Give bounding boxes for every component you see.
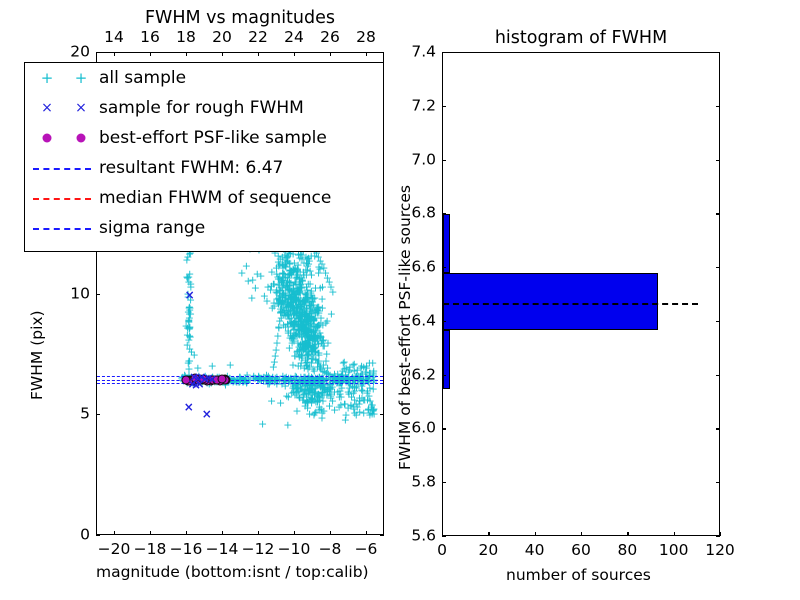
legend-marker-dot bbox=[43, 134, 52, 143]
hist-y-tick-left bbox=[442, 267, 446, 268]
scatter-point-all: + bbox=[314, 357, 323, 368]
top-tick-label: 16 bbox=[140, 30, 160, 46]
hist-y-tick-left bbox=[442, 428, 446, 429]
x-tick-bottom bbox=[258, 531, 259, 535]
legend-item[interactable]: median FHWM of sequence bbox=[25, 183, 383, 213]
scatter-point-rough: × bbox=[184, 401, 194, 413]
scatter-point-all: + bbox=[289, 293, 298, 304]
bottom-tick-label: −14 bbox=[206, 542, 239, 558]
scatter-point-all: + bbox=[247, 293, 256, 304]
y-tick-left bbox=[96, 414, 100, 415]
bottom-tick-label: −16 bbox=[170, 542, 203, 558]
legend-item[interactable]: resultant FWHM: 6.47 bbox=[25, 153, 383, 183]
legend-item[interactable]: ++all sample bbox=[25, 63, 383, 93]
y-tick-right bbox=[380, 414, 384, 415]
scatter-point-all: + bbox=[301, 292, 310, 303]
hist-y-tick-right bbox=[716, 536, 720, 537]
y-tick-right bbox=[380, 535, 384, 536]
x-tick-top bbox=[294, 52, 295, 56]
bottom-tick-label: −20 bbox=[98, 542, 131, 558]
top-tick-label: 14 bbox=[104, 30, 124, 46]
scatter-point-all: + bbox=[358, 368, 367, 379]
legend-marker-x: × bbox=[75, 101, 87, 115]
hist-y-tick-left bbox=[442, 52, 446, 53]
legend-item[interactable]: ××sample for rough FWHM bbox=[25, 93, 383, 123]
hist-y-tick-right bbox=[716, 213, 720, 214]
hist-x-tick-label: 40 bbox=[525, 543, 545, 559]
legend-marker-plus: + bbox=[41, 71, 54, 85]
hist-x-tick bbox=[674, 532, 675, 536]
legend-handle bbox=[25, 213, 99, 243]
hist-y-tick-label: 7.2 bbox=[396, 98, 436, 114]
legend-marker-x: × bbox=[41, 101, 53, 115]
scatter-point-all: + bbox=[283, 419, 292, 430]
hist-y-tick-right bbox=[716, 160, 720, 161]
x-tick-top bbox=[366, 52, 367, 56]
scatter-point-all: + bbox=[185, 303, 194, 314]
histogram-median-line bbox=[443, 303, 698, 305]
scatter-point-all: + bbox=[282, 253, 291, 264]
hist-y-tick-right bbox=[716, 375, 720, 376]
scatter-point-all: + bbox=[304, 252, 313, 263]
hist-x-tick-label: 60 bbox=[571, 543, 591, 559]
histogram-layer bbox=[443, 53, 719, 535]
x-tick-bottom bbox=[222, 531, 223, 535]
bottom-tick-label: −12 bbox=[242, 542, 275, 558]
scatter-point-all: + bbox=[350, 386, 359, 397]
scatter-point-rough: × bbox=[207, 373, 217, 385]
bottom-tick-label: −18 bbox=[134, 542, 167, 558]
hist-y-tick-right bbox=[716, 482, 720, 483]
hist-y-tick-right bbox=[716, 52, 720, 53]
scatter-point-all: + bbox=[301, 401, 310, 412]
legend-label: resultant FWHM: 6.47 bbox=[99, 158, 283, 178]
bottom-tick-label: −10 bbox=[278, 542, 311, 558]
right-panel-title: histogram of FWHM bbox=[495, 28, 667, 48]
scatter-point-all: + bbox=[340, 398, 349, 409]
left-x-axis-label: magnitude (bottom:isnt / top:calib) bbox=[96, 563, 369, 581]
hist-y-tick-label: 7.0 bbox=[396, 152, 436, 168]
left-panel-title: FWHM vs magnitudes bbox=[145, 8, 335, 28]
x-tick-bottom bbox=[114, 531, 115, 535]
y-tick-label: 5 bbox=[58, 407, 90, 423]
scatter-point-all: + bbox=[328, 287, 337, 298]
hist-x-tick bbox=[720, 532, 721, 536]
scatter-point-all: + bbox=[319, 373, 328, 384]
hist-x-tick-label: 80 bbox=[617, 543, 637, 559]
scatter-point-all: + bbox=[226, 359, 235, 370]
legend-label: all sample bbox=[99, 68, 186, 88]
bottom-tick-label: −8 bbox=[319, 542, 342, 558]
scatter-point-all: + bbox=[267, 395, 276, 406]
scatter-point-rough: × bbox=[185, 289, 195, 301]
legend[interactable]: ++all sample××sample for rough FWHMbest-… bbox=[24, 62, 384, 252]
x-tick-top bbox=[258, 52, 259, 56]
scatter-point-all: + bbox=[293, 265, 302, 276]
y-tick-label: 10 bbox=[58, 286, 90, 302]
hist-y-tick-right bbox=[716, 321, 720, 322]
histogram-bar[interactable] bbox=[443, 330, 450, 389]
top-tick-label: 20 bbox=[212, 30, 232, 46]
scatter-point-all: + bbox=[353, 401, 362, 412]
legend-label: median FHWM of sequence bbox=[99, 188, 331, 208]
hist-x-tick bbox=[627, 532, 628, 536]
figure-canvas: FWHM vs magnitudes 1416182022242628 −20−… bbox=[0, 0, 800, 600]
x-tick-top bbox=[222, 52, 223, 56]
legend-handle: ×× bbox=[25, 93, 99, 123]
scatter-point-all: + bbox=[298, 352, 307, 363]
x-tick-bottom bbox=[366, 531, 367, 535]
legend-label: sample for rough FWHM bbox=[99, 98, 304, 118]
scatter-point-all: + bbox=[319, 406, 328, 417]
legend-marker-plus: + bbox=[75, 71, 88, 85]
hist-x-tick bbox=[488, 532, 489, 536]
x-tick-top bbox=[114, 52, 115, 56]
top-tick-label: 22 bbox=[248, 30, 268, 46]
x-tick-top bbox=[186, 52, 187, 56]
resultant-fwhm-line bbox=[97, 380, 383, 381]
hist-x-tick bbox=[581, 532, 582, 536]
scatter-point-all: + bbox=[185, 355, 194, 366]
x-tick-top bbox=[330, 52, 331, 56]
legend-label: sigma range bbox=[99, 218, 205, 238]
y-tick-left bbox=[96, 294, 100, 295]
top-tick-label: 24 bbox=[284, 30, 304, 46]
scatter-point-rough: × bbox=[195, 378, 205, 390]
x-tick-bottom bbox=[294, 531, 295, 535]
hist-x-tick-label: 0 bbox=[437, 543, 447, 559]
top-tick-label: 18 bbox=[176, 30, 196, 46]
legend-handle bbox=[25, 183, 99, 213]
hist-y-tick-left bbox=[442, 536, 446, 537]
legend-label: best-effort PSF-like sample bbox=[99, 128, 327, 148]
y-tick-left bbox=[96, 535, 100, 536]
legend-item[interactable]: sigma range bbox=[25, 213, 383, 243]
left-y-axis-label: FWHM (pix) bbox=[28, 310, 46, 400]
legend-line-dashed bbox=[33, 168, 91, 170]
legend-line-dashed bbox=[33, 198, 91, 200]
y-tick-label: 20 bbox=[58, 44, 90, 60]
y-tick-label: 0 bbox=[58, 527, 90, 543]
right-y-axis-label: FWHM of best-effort PSF-like sources bbox=[396, 185, 414, 470]
scatter-point-all: + bbox=[186, 332, 195, 343]
top-tick-label: 26 bbox=[320, 30, 340, 46]
hist-y-tick-right bbox=[716, 267, 720, 268]
scatter-point-all: + bbox=[262, 295, 271, 306]
legend-line-dashdot bbox=[33, 228, 91, 230]
histogram-bar[interactable] bbox=[443, 214, 450, 273]
hist-y-tick-right bbox=[716, 428, 720, 429]
hist-x-tick-label: 120 bbox=[705, 543, 735, 559]
y-tick-right bbox=[380, 294, 384, 295]
scatter-point-all: + bbox=[283, 321, 292, 332]
scatter-point-all: + bbox=[309, 343, 318, 354]
hist-y-tick-label: 7.4 bbox=[396, 44, 436, 60]
hist-y-tick-left bbox=[442, 213, 446, 214]
scatter-point-rough: × bbox=[202, 408, 212, 420]
sigma-range-high-line bbox=[97, 376, 383, 377]
hist-y-tick-right bbox=[716, 106, 720, 107]
hist-x-tick bbox=[535, 532, 536, 536]
hist-x-tick-label: 100 bbox=[659, 543, 689, 559]
hist-y-tick-left bbox=[442, 160, 446, 161]
right-x-axis-label: number of sources bbox=[506, 566, 651, 584]
scatter-point-all: + bbox=[274, 274, 283, 285]
sigma-range-low-line bbox=[97, 383, 383, 384]
histogram-plot-area[interactable] bbox=[442, 52, 720, 536]
scatter-point-all: + bbox=[340, 357, 349, 368]
scatter-point-all: + bbox=[303, 315, 312, 326]
legend-marker-dot bbox=[77, 134, 86, 143]
x-tick-top bbox=[150, 52, 151, 56]
histogram-bar[interactable] bbox=[443, 273, 658, 329]
scatter-point-psf bbox=[218, 374, 227, 383]
x-tick-bottom bbox=[330, 531, 331, 535]
hist-y-tick-left bbox=[442, 321, 446, 322]
x-tick-bottom bbox=[186, 531, 187, 535]
hist-y-tick-left bbox=[442, 482, 446, 483]
scatter-point-all: + bbox=[314, 267, 323, 278]
scatter-point-all: + bbox=[258, 418, 267, 429]
legend-item[interactable]: best-effort PSF-like sample bbox=[25, 123, 383, 153]
hist-x-tick-label: 20 bbox=[478, 543, 498, 559]
legend-handle bbox=[25, 153, 99, 183]
bottom-tick-label: −6 bbox=[355, 542, 378, 558]
hist-y-tick-left bbox=[442, 375, 446, 376]
scatter-point-all: + bbox=[286, 306, 295, 317]
scatter-point-all: + bbox=[327, 308, 336, 319]
scatter-point-all: + bbox=[276, 294, 285, 305]
legend-handle bbox=[25, 123, 99, 153]
hist-y-tick-label: 5.6 bbox=[396, 528, 436, 544]
scatter-point-all: + bbox=[363, 386, 372, 397]
x-tick-bottom bbox=[150, 531, 151, 535]
scatter-point-all: + bbox=[368, 408, 377, 419]
hist-y-tick-left bbox=[442, 106, 446, 107]
legend-handle: ++ bbox=[25, 63, 99, 93]
hist-y-tick-label: 5.8 bbox=[396, 474, 436, 490]
y-tick-left bbox=[96, 52, 100, 53]
scatter-point-all: + bbox=[299, 339, 308, 350]
top-tick-label: 28 bbox=[356, 30, 376, 46]
y-tick-right bbox=[380, 52, 384, 53]
